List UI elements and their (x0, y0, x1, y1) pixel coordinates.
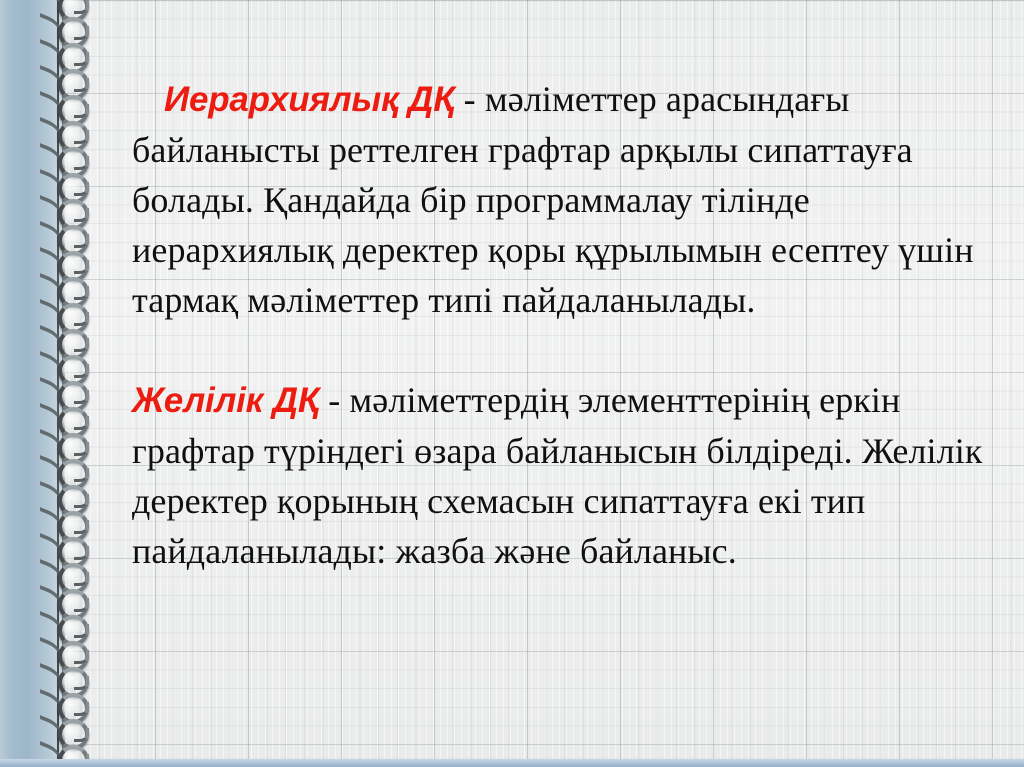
spiral-coil (40, 94, 92, 120)
term-hierarchical-db: Иерархиялық ДҚ (164, 80, 455, 119)
spiral-coil (40, 510, 92, 536)
spiral-coil (40, 302, 92, 328)
spiral-coil (40, 432, 92, 458)
spiral-coil (40, 172, 92, 198)
slide-text-content: Иерархиялық ДҚ - мәліметтер арасындағы б… (132, 38, 1016, 612)
spiral-coil (40, 692, 92, 718)
term-network-db: Желілік ДҚ (132, 381, 319, 420)
spiral-binding (40, 0, 92, 767)
spiral-coil (40, 484, 92, 510)
spiral-coil (40, 120, 92, 146)
notebook-bottom-strip (0, 759, 1024, 767)
spiral-coil (40, 458, 92, 484)
paragraph-hierarchical-db: Иерархиялық ДҚ - мәліметтер арасындағы б… (132, 74, 1016, 325)
spiral-coil (40, 718, 92, 744)
spiral-coil (40, 42, 92, 68)
spiral-coil (40, 666, 92, 692)
spiral-coil (40, 198, 92, 224)
spiral-coil (40, 250, 92, 276)
spiral-coil (40, 562, 92, 588)
spiral-coil (40, 536, 92, 562)
spiral-coil (40, 406, 92, 432)
spiral-coil (40, 354, 92, 380)
spiral-coil (40, 328, 92, 354)
spiral-coil (40, 614, 92, 640)
slide-canvas: Иерархиялық ДҚ - мәліметтер арасындағы б… (0, 0, 1024, 767)
paragraph-network-db: Желілік ДҚ - мәліметтердің элементтеріні… (132, 375, 1016, 576)
spiral-coil (40, 276, 92, 302)
spiral-coil (40, 0, 92, 16)
spiral-coil (40, 640, 92, 666)
spiral-coil (40, 224, 92, 250)
spiral-coil (40, 68, 92, 94)
spiral-coil (40, 16, 92, 42)
spiral-coil (40, 380, 92, 406)
spiral-coil (40, 588, 92, 614)
spiral-coil (40, 146, 92, 172)
